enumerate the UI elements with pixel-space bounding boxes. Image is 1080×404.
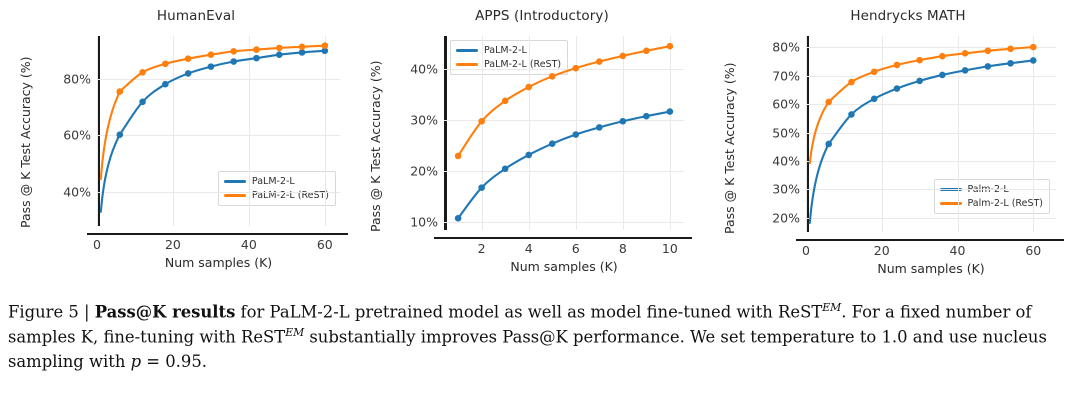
data-point-marker [572, 131, 579, 138]
data-point-marker [848, 111, 855, 118]
data-point-marker [549, 73, 556, 80]
y-axis-tick-label: 60% [772, 97, 800, 112]
data-point-marker [620, 53, 627, 60]
series-layer [97, 36, 340, 226]
series-line-blue [810, 60, 1033, 222]
x-axis-tick-label: 20 [874, 243, 890, 258]
data-point-marker [1007, 60, 1014, 67]
y-axis-tick-label: 40% [63, 184, 91, 199]
data-point-marker [185, 55, 192, 62]
x-axis-tick-label: 8 [619, 241, 627, 256]
data-point-marker [185, 70, 192, 77]
y-axis-tick-label: 70% [772, 68, 800, 83]
axis-spine-bottom-3 [796, 239, 1064, 242]
data-point-marker [208, 63, 215, 70]
chart-panel-apps: APPS (Introductory) Pass @ K Test Accura… [356, 0, 706, 288]
y-axis-label-2: Pass @ K Test Accuracy (%) [368, 60, 383, 232]
data-point-marker [139, 69, 146, 76]
series-layer [806, 36, 1056, 232]
data-point-marker [916, 57, 923, 64]
data-point-marker [230, 58, 237, 65]
data-point-marker [299, 43, 306, 50]
x-axis-label-2: Num samples (K) [510, 259, 617, 274]
data-point-marker [116, 88, 123, 95]
y-axis-tick-label: 30% [410, 113, 438, 128]
data-point-marker [871, 95, 878, 102]
data-point-marker [549, 140, 556, 147]
data-point-marker [253, 55, 260, 62]
chart-title-2: APPS (Introductory) [356, 8, 706, 24]
data-point-marker [939, 53, 946, 60]
caption-figure-number: Figure 5 | [8, 302, 90, 321]
data-point-marker [525, 84, 532, 91]
plot-area-2: Num samples (K) PaLM-2-L PaLM-2-L (ReST)… [444, 36, 684, 230]
y-axis-tick-label: 40% [410, 62, 438, 77]
data-point-marker [596, 124, 603, 131]
chart-panel-math: Hendrycks MATH Pass @ K Test Accuracy (%… [706, 0, 1080, 288]
y-axis-tick-label: 30% [772, 182, 800, 197]
x-axis-tick-label: 2 [478, 241, 486, 256]
data-point-marker [1007, 45, 1014, 52]
chart-panel-row: HumanEval Pass @ K Test Accuracy (%) Num… [0, 0, 1080, 288]
plot-area-3: Num samples (K) Palm-2-L Palm-2-L (ReST)… [806, 36, 1056, 232]
data-point-marker [572, 65, 579, 72]
data-point-marker [894, 85, 901, 92]
x-axis-tick-label: 0 [93, 237, 101, 252]
x-axis-tick-label: 40 [241, 237, 257, 252]
x-axis-tick-label: 40 [950, 243, 966, 258]
data-point-marker [455, 153, 462, 160]
data-point-marker [916, 78, 923, 85]
data-point-marker [525, 152, 532, 159]
y-axis-tick-label: 20% [410, 164, 438, 179]
data-point-marker [667, 108, 674, 115]
series-layer [444, 36, 684, 230]
y-axis-tick-label: 20% [772, 210, 800, 225]
y-axis-tick-label: 80% [63, 71, 91, 86]
figure-container: HumanEval Pass @ K Test Accuracy (%) Num… [0, 0, 1080, 404]
data-point-marker [825, 99, 832, 106]
data-point-marker [502, 165, 509, 172]
caption-text-4: = 0.95. [141, 352, 207, 371]
series-line-blue [101, 51, 325, 212]
chart-title-3: Hendrycks MATH [706, 8, 1080, 24]
caption-text-1: for PaLM-2-L pretrained model as well as… [235, 302, 822, 321]
caption-superscript-1: EM [822, 301, 841, 314]
x-axis-label-1: Num samples (K) [165, 255, 272, 270]
data-point-marker [985, 47, 992, 54]
data-point-marker [620, 118, 627, 125]
y-axis-label-3: Pass @ K Test Accuracy (%) [722, 62, 737, 234]
data-point-marker [299, 49, 306, 56]
data-point-marker [253, 46, 260, 53]
data-point-marker [962, 67, 969, 74]
plot-area-1: Num samples (K) PaLM-2-L PaLM-2-L (ReST)… [97, 36, 340, 226]
x-axis-tick-label: 6 [572, 241, 580, 256]
data-point-marker [1030, 57, 1037, 64]
data-point-marker [208, 51, 215, 58]
x-axis-tick-label: 10 [662, 241, 678, 256]
x-axis-label-3: Num samples (K) [877, 261, 984, 276]
series-line-blue [458, 112, 670, 219]
data-point-marker [322, 42, 329, 49]
data-point-marker [985, 63, 992, 70]
data-point-marker [871, 68, 878, 75]
data-point-marker [643, 48, 650, 55]
data-point-marker [276, 45, 283, 52]
data-point-marker [939, 72, 946, 79]
data-point-marker [455, 215, 462, 222]
data-point-marker [667, 43, 674, 50]
data-point-marker [502, 98, 509, 105]
y-axis-tick-label: 40% [772, 153, 800, 168]
x-axis-tick-label: 0 [802, 243, 810, 258]
x-axis-tick-label: 20 [165, 237, 181, 252]
data-point-marker [230, 48, 237, 55]
data-point-marker [894, 62, 901, 69]
data-point-marker [962, 50, 969, 57]
y-axis-tick-label: 50% [772, 125, 800, 140]
axis-spine-bottom-1 [87, 233, 348, 236]
data-point-marker [162, 81, 169, 88]
data-point-marker [116, 131, 123, 138]
data-point-marker [162, 60, 169, 67]
y-axis-label-1: Pass @ K Test Accuracy (%) [18, 56, 33, 228]
caption-superscript-2: EM [285, 326, 304, 339]
data-point-marker [478, 184, 485, 191]
axis-spine-bottom-2 [434, 237, 692, 240]
x-axis-tick-label: 60 [1025, 243, 1041, 258]
x-axis-tick-label: 4 [525, 241, 533, 256]
data-point-marker [596, 58, 603, 65]
data-point-marker [276, 51, 283, 58]
data-point-marker [825, 141, 832, 148]
figure-caption: Figure 5 | Pass@K results for PaLM-2-L p… [8, 300, 1070, 374]
y-axis-tick-label: 60% [63, 128, 91, 143]
chart-title-1: HumanEval [0, 8, 356, 24]
data-point-marker [478, 118, 485, 125]
data-point-marker [643, 113, 650, 120]
caption-bold-lead: Pass@K results [95, 302, 236, 321]
y-axis-tick-label: 80% [772, 40, 800, 55]
data-point-marker [139, 98, 146, 105]
data-point-marker [848, 79, 855, 86]
x-axis-tick-label: 60 [317, 237, 333, 252]
y-axis-tick-label: 10% [410, 215, 438, 230]
data-point-marker [1030, 44, 1037, 51]
chart-panel-humaneval: HumanEval Pass @ K Test Accuracy (%) Num… [0, 0, 356, 288]
caption-italic-p: p [131, 352, 142, 371]
